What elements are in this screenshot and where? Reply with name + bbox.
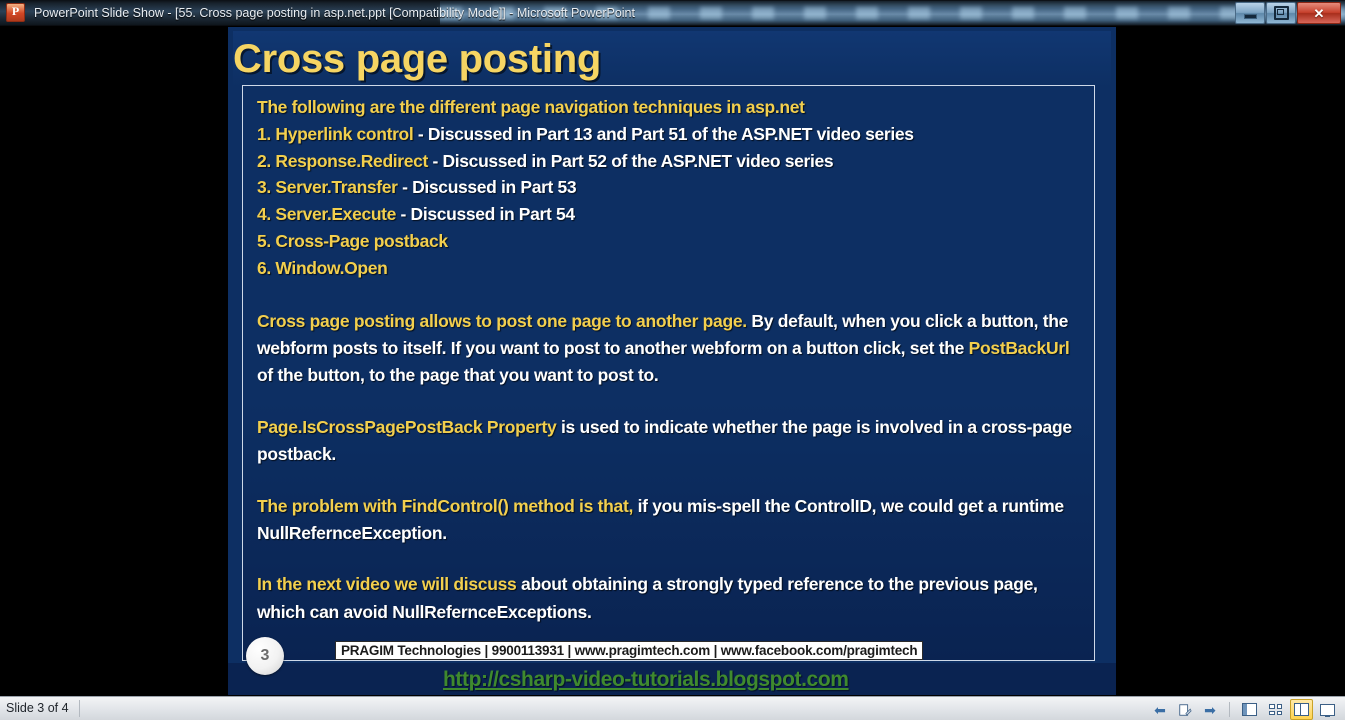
status-bar-divider (1229, 702, 1230, 717)
list-item-number: 4. (257, 204, 275, 224)
status-bar: Slide 3 of 4 ⬅ ➡ (0, 696, 1345, 720)
arrow-left-icon: ⬅ (1154, 703, 1166, 717)
blog-link[interactable]: http://csharp-video-tutorials.blogspot.c… (443, 668, 849, 692)
list-item: 4. Server.Execute - Discussed in Part 54 (257, 201, 1082, 228)
paragraph-spacer (257, 390, 1082, 414)
status-bar-controls: ⬅ ➡ (1149, 699, 1339, 720)
list-item-rest: - Discussed in Part 52 of the ASP.NET vi… (428, 151, 833, 171)
intro-line: The following are the different page nav… (257, 94, 1082, 121)
list-item: 2. Response.Redirect - Discussed in Part… (257, 148, 1082, 175)
credit-banner: PRAGIM Technologies | 9900113931 | www.p… (335, 641, 923, 660)
powerpoint-icon: P (6, 3, 25, 22)
window-controls: ✕ (1235, 2, 1341, 24)
list-item-number: 3. (257, 177, 275, 197)
slide-title: Cross page posting (233, 31, 1111, 87)
list-item-number: 1. (257, 124, 275, 144)
paragraph-lead: Cross page posting allows to post one pa… (257, 311, 747, 331)
minimize-button[interactable] (1235, 2, 1265, 24)
list-item-rest: - Discussed in Part 13 and Part 51 of th… (413, 124, 913, 144)
list-item-number: 6. (257, 258, 275, 278)
window-title: PowerPoint Slide Show - [55. Cross page … (34, 6, 635, 20)
paragraph: Page.IsCrossPagePostBack Property is use… (257, 414, 1082, 469)
list-item-number: 2. (257, 151, 275, 171)
paragraph-spacer (257, 282, 1082, 308)
list-item: 3. Server.Transfer - Discussed in Part 5… (257, 174, 1082, 201)
paragraph-lead: Page.IsCrossPagePostBack Property (257, 417, 556, 437)
view-reading-button[interactable] (1290, 699, 1313, 720)
list-item-term: Hyperlink control (275, 124, 413, 144)
list-item-term: Server.Transfer (275, 177, 397, 197)
minimize-icon (1244, 14, 1257, 19)
arrow-right-icon: ➡ (1204, 703, 1216, 717)
slide-canvas: Cross page posting The following are the… (228, 27, 1116, 695)
pen-icon (1178, 703, 1192, 717)
list-item-term: Server.Execute (275, 204, 396, 224)
pointer-options-button[interactable] (1174, 700, 1196, 719)
slide-counter: Slide 3 of 4 (6, 700, 80, 717)
paragraph: Cross page posting allows to post one pa… (257, 308, 1082, 390)
list-item: 5. Cross-Page postback (257, 228, 1082, 255)
paragraph-inline-highlight: PostBackUrl (969, 338, 1070, 358)
window-title-bar: P PowerPoint Slide Show - [55. Cross pag… (0, 0, 1345, 26)
restore-button[interactable] (1266, 2, 1296, 24)
restore-icon (1274, 6, 1289, 20)
list-item-rest: - Discussed in Part 53 (398, 177, 577, 197)
list-item-rest: - Discussed in Part 54 (396, 204, 575, 224)
list-item-number: 5. (257, 231, 275, 251)
view-slide-show-button[interactable] (1316, 699, 1339, 720)
close-icon: ✕ (1314, 7, 1325, 20)
slide-number-badge: 3 (246, 637, 284, 675)
paragraph-body-b: of the button, to the page that you want… (257, 365, 658, 385)
slide-show-icon (1320, 704, 1335, 716)
slide-sorter-icon (1269, 704, 1282, 715)
powerpoint-slideshow-window: P PowerPoint Slide Show - [55. Cross pag… (0, 0, 1345, 720)
list-item-term: Window.Open (275, 258, 387, 278)
list-item: 6. Window.Open (257, 255, 1082, 282)
paragraph-spacer (257, 547, 1082, 571)
paragraph: In the next video we will discuss about … (257, 571, 1082, 626)
previous-slide-button[interactable]: ⬅ (1149, 700, 1171, 719)
paragraph-lead: In the next video we will discuss (257, 574, 516, 594)
list-item-term: Cross-Page postback (275, 231, 447, 251)
close-button[interactable]: ✕ (1297, 2, 1341, 24)
next-slide-button[interactable]: ➡ (1199, 700, 1221, 719)
reading-view-icon (1294, 703, 1309, 716)
list-item-term: Response.Redirect (275, 151, 428, 171)
view-normal-button[interactable] (1238, 699, 1261, 720)
paragraph: The problem with FindControl() method is… (257, 493, 1082, 548)
intro-text: The following are the different page nav… (257, 97, 805, 117)
list-item: 1. Hyperlink control - Discussed in Part… (257, 121, 1082, 148)
normal-view-icon (1242, 703, 1257, 716)
paragraph-spacer (257, 469, 1082, 493)
slide-content-box: The following are the different page nav… (242, 85, 1095, 661)
view-slide-sorter-button[interactable] (1264, 699, 1287, 720)
paragraph-lead: The problem with FindControl() method is… (257, 496, 633, 516)
